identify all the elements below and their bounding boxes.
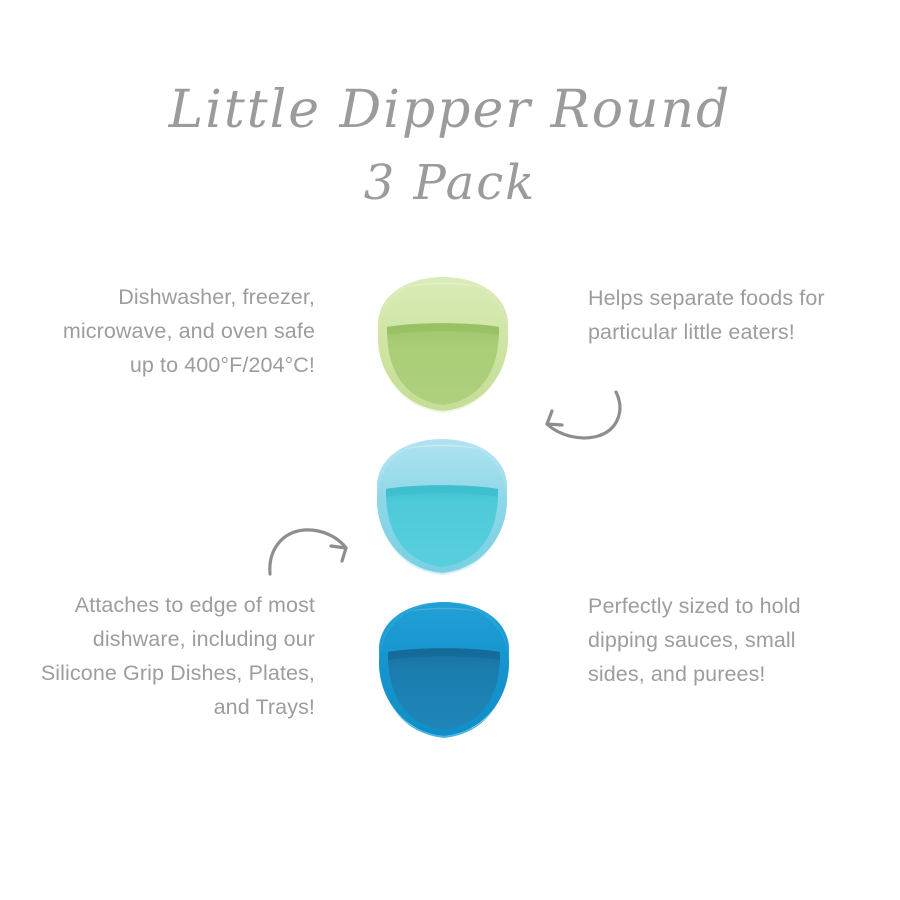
feature-bottom-left: Attaches to edge of most dishware, inclu… xyxy=(30,588,315,724)
title-line-secondary: 3 Pack xyxy=(0,152,900,214)
curved-arrow-left-icon xyxy=(524,386,634,448)
product-bowl-green xyxy=(374,274,512,416)
title-line-primary: Little Dipper Round xyxy=(0,78,900,142)
product-bowl-cyan xyxy=(373,436,511,578)
feature-top-left: Dishwasher, freezer, microwave, and oven… xyxy=(60,280,315,382)
feature-top-right: Helps separate foods for particular litt… xyxy=(588,281,848,349)
product-bowl-blue xyxy=(375,599,513,741)
feature-bottom-right: Perfectly sized to hold dipping sauces, … xyxy=(588,589,838,691)
product-infographic: Little Dipper Round 3 Pack Dishwasher, f… xyxy=(0,0,900,900)
product-title: Little Dipper Round 3 Pack xyxy=(0,78,900,214)
curved-arrow-right-icon xyxy=(258,518,368,580)
